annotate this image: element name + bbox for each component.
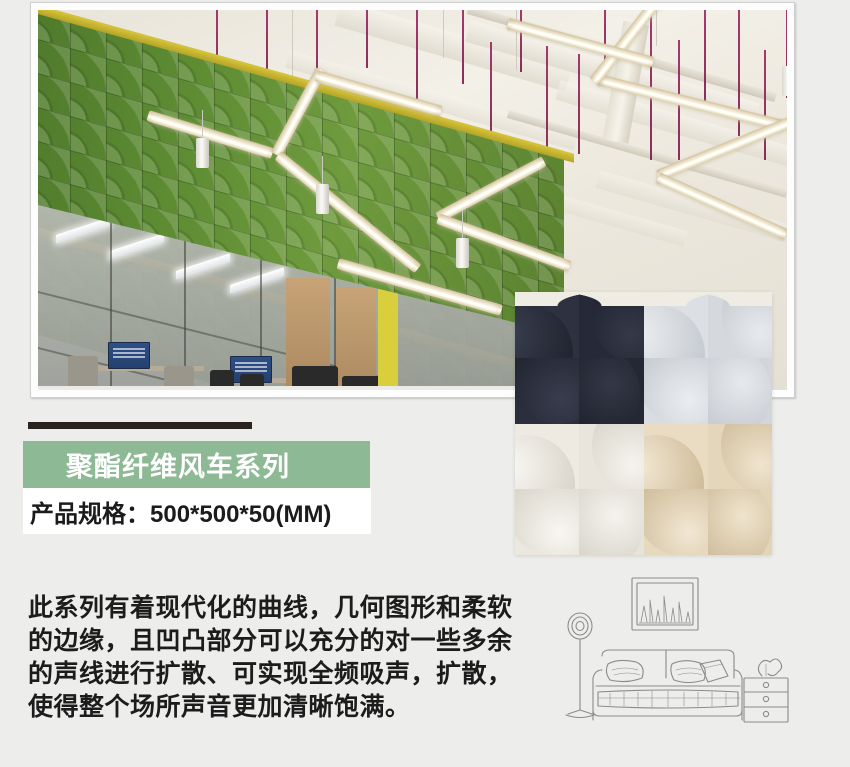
panel-tile bbox=[708, 489, 772, 555]
panel-tile bbox=[515, 358, 579, 424]
potted-plant-sketch bbox=[758, 659, 781, 676]
polyester-fiber-windmill-panel-swatches bbox=[515, 292, 772, 555]
suspension-wire bbox=[656, 10, 657, 46]
panel-swatch-light-gray bbox=[644, 292, 773, 424]
product-spec-bar: 产品规格：500*500*50(MM) bbox=[23, 488, 371, 534]
sofa-sketch bbox=[593, 650, 742, 720]
panel-swatch-cream-white bbox=[515, 424, 644, 556]
product-description: 此系列有着现代化的曲线，几何图形和柔软的边缘，且凹凸部分可以充分的对一些多余的声… bbox=[28, 592, 518, 724]
series-title-bar: 聚酯纤维风车系列 bbox=[23, 441, 370, 488]
panel-tile bbox=[644, 489, 708, 555]
panel-tile bbox=[579, 489, 643, 555]
framed-picture-sketch bbox=[632, 578, 698, 630]
spot-light bbox=[316, 184, 329, 214]
panel-tile bbox=[579, 424, 643, 490]
series-title: 聚酯纤维风车系列 bbox=[66, 445, 290, 484]
hanging-rod bbox=[462, 10, 464, 84]
panel-tile bbox=[579, 358, 643, 424]
ceiling-panel-light bbox=[110, 233, 164, 260]
panel-tile bbox=[644, 358, 708, 424]
panel-arched-top bbox=[644, 292, 773, 306]
floor bbox=[38, 386, 594, 390]
hanging-rod bbox=[520, 10, 522, 72]
spot-light bbox=[196, 138, 209, 168]
office-chair bbox=[68, 356, 98, 390]
hanging-rod bbox=[764, 50, 766, 160]
hanging-rod bbox=[416, 10, 418, 106]
suspension-wire bbox=[443, 10, 444, 58]
panel-swatch-dark-navy bbox=[515, 292, 644, 424]
product-detail-page: 聚酯纤维风车系列 产品规格：500*500*50(MM) bbox=[0, 0, 850, 767]
living-room-line-drawing bbox=[540, 566, 820, 756]
hanging-rod bbox=[578, 54, 580, 154]
hanging-rod bbox=[650, 10, 652, 160]
suspension-wire bbox=[292, 10, 293, 85]
wood-door bbox=[336, 288, 376, 390]
panel-swatch-beige-tan bbox=[644, 424, 773, 556]
panel-tile bbox=[515, 424, 579, 490]
panel-tile bbox=[708, 358, 772, 424]
panel-tile bbox=[515, 489, 579, 555]
section-divider-rule bbox=[28, 422, 252, 429]
spot-light bbox=[782, 66, 787, 96]
hanging-rod bbox=[366, 10, 368, 68]
floor-lamp-sketch bbox=[566, 613, 594, 718]
product-spec-text: 产品规格：500*500*50(MM) bbox=[30, 494, 331, 529]
hanging-rod bbox=[704, 10, 706, 106]
panel-tile bbox=[644, 424, 708, 490]
spot-light bbox=[456, 238, 469, 268]
ceiling-panel-light bbox=[230, 267, 284, 294]
side-table-sketch bbox=[744, 678, 788, 722]
panel-tile bbox=[708, 424, 772, 490]
ceiling-panel-light bbox=[56, 217, 110, 244]
panel-arched-top bbox=[515, 292, 644, 306]
computer-monitor bbox=[108, 342, 150, 369]
